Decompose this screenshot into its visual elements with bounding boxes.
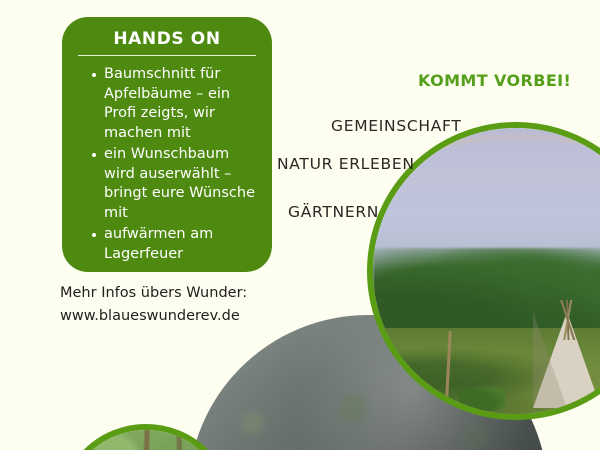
website-link[interactable]: www.blaueswunderev.de [60,305,300,328]
more-info-block: Mehr Infos übers Wunder: www.blaueswunde… [60,282,300,328]
shrub [459,385,505,411]
hands-on-card: HANDS ON Baumschnitt für Apfelbäume – ei… [62,17,272,272]
keyword-gemeinschaft: GEMEINSCHAFT [331,117,462,135]
list-item: ein Wunschbaum wird auserwählt – bringt … [92,145,258,223]
keyword-gaertnern: GÄRTNERN [288,203,379,221]
list-item: Baumschnitt für Apfelbäume – ein Profi z… [92,65,258,143]
list-item: aufwärmen am Lagerfeuer [92,225,258,264]
tipi-poles [545,300,591,340]
hands-on-title: HANDS ON [76,26,258,52]
garden-bed-photo [64,430,228,450]
title-divider [78,55,256,56]
more-info-label: Mehr Infos übers Wunder: [60,282,300,305]
keyword-natur-erleben: NATUR ERLEBEN [277,155,415,173]
plant-stems-texture [64,430,228,450]
hands-on-bullet-list: Baumschnitt für Apfelbäume – ein Profi z… [76,65,258,264]
headline-kommt-vorbei: KOMMT VORBEI! [418,71,571,90]
flyer-canvas: HANDS ON Baumschnitt für Apfelbäume – ei… [0,0,600,450]
